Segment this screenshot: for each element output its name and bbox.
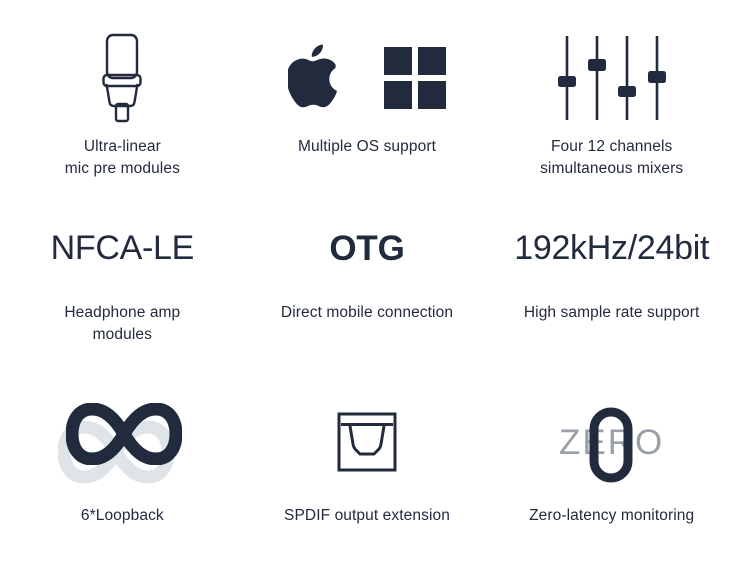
microphone-capsule-icon bbox=[94, 22, 150, 134]
feature-card-zero-latency: ZERO Zero-latency monitoring bbox=[489, 380, 734, 567]
feature-card-ultra-linear-mic-pre: Ultra-linear mic pre modules bbox=[0, 0, 245, 198]
faders-mixer-icon bbox=[557, 22, 667, 134]
feature-caption: 6*Loopback bbox=[81, 505, 164, 527]
feature-caption: Four 12 channels simultaneous mixers bbox=[540, 136, 683, 181]
feature-caption: Direct mobile connection bbox=[281, 302, 453, 324]
infinity-main-icon bbox=[66, 403, 182, 465]
feature-card-simultaneous-mixers: Four 12 channels simultaneous mixers bbox=[489, 0, 734, 198]
feature-card-otg: OTG Direct mobile connection bbox=[245, 198, 490, 380]
feature-headline: OTG bbox=[329, 216, 404, 282]
feature-card-multiple-os-support: Multiple OS support bbox=[245, 0, 490, 198]
feature-caption: Ultra-linear mic pre modules bbox=[65, 136, 180, 181]
feature-caption: SPDIF output extension bbox=[284, 505, 450, 527]
feature-headline: 192kHz/24bit bbox=[514, 216, 709, 282]
feature-grid: Ultra-linear mic pre modules bbox=[0, 0, 734, 567]
feature-card-spdif: SPDIF output extension bbox=[245, 380, 490, 567]
feature-card-loopback: 6*Loopback bbox=[0, 380, 245, 567]
feature-card-sample-rate: 192kHz/24bit High sample rate support bbox=[489, 198, 734, 380]
infinity-loop-icon bbox=[58, 394, 186, 489]
windows-logo-icon bbox=[384, 47, 446, 109]
zero-ring-icon: ZERO bbox=[537, 394, 687, 489]
apple-logo-icon bbox=[288, 44, 344, 112]
feature-caption: Headphone amp modules bbox=[64, 302, 180, 347]
apple-windows-logos bbox=[288, 22, 446, 134]
feature-caption: Zero-latency monitoring bbox=[529, 505, 694, 527]
feature-caption: High sample rate support bbox=[524, 302, 700, 324]
feature-caption: Multiple OS support bbox=[298, 136, 436, 158]
feature-card-headphone-amp: NFCA-LE Headphone amp modules bbox=[0, 198, 245, 380]
feature-headline: NFCA-LE bbox=[51, 216, 194, 282]
zero-ring-shape-icon bbox=[587, 407, 635, 483]
spdif-optical-port-icon bbox=[337, 394, 397, 489]
